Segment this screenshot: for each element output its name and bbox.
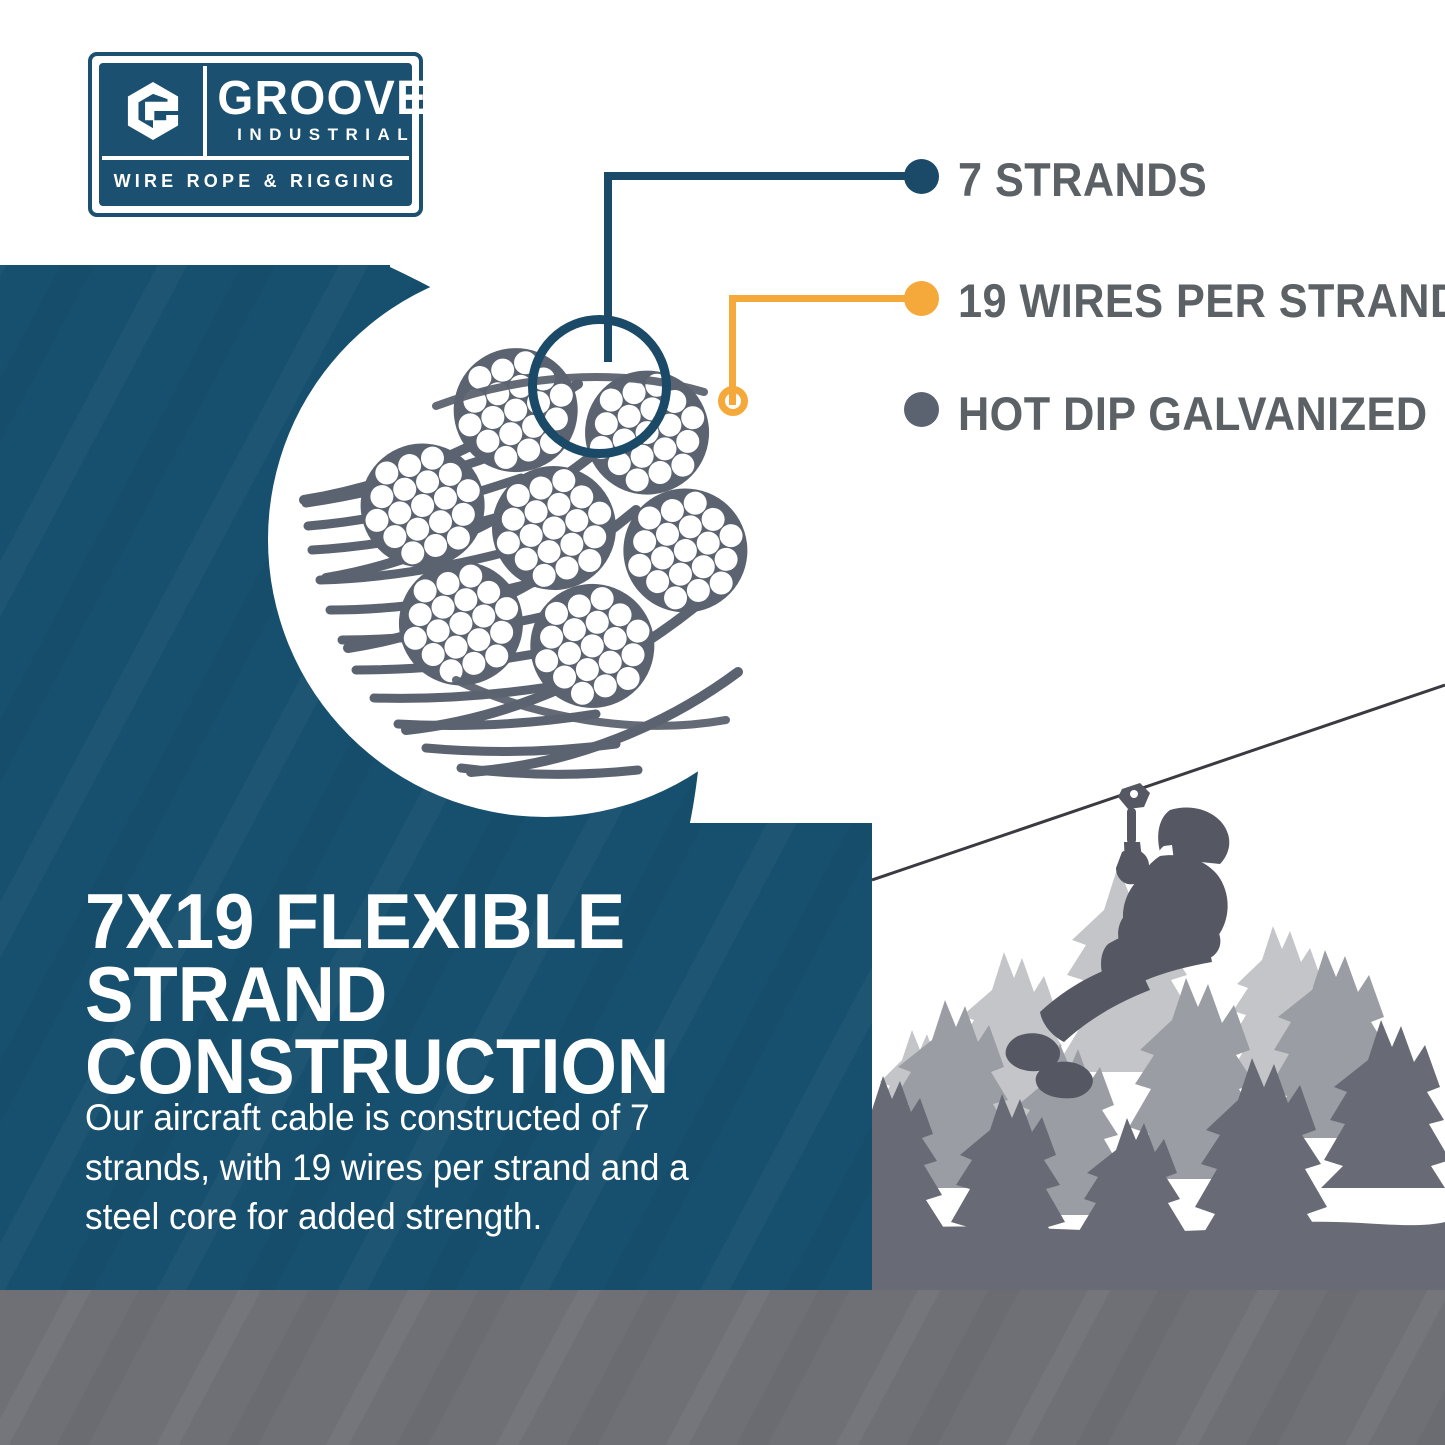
logo-tagline: WIRE ROPE & RIGGING [114,171,398,192]
callout-label-galvanized: HOT DIP GALVANIZED [958,386,1428,441]
bottom-bar-stripe-texture [0,1290,1445,1445]
logo-brand-name: GROOVE [218,77,429,121]
logo-top-row: GROOVE INDUSTRIAL [102,66,409,160]
logo-wordmark: GROOVE INDUSTRIAL [207,66,439,156]
callout-line-strands-horizontal [604,172,922,180]
body-description: Our aircraft cable is constructed of 7 s… [85,1093,731,1242]
gray-dot-marker [904,392,939,427]
callout-label-strands: 7 STRANDS [958,152,1207,207]
blue-dot-marker [904,159,939,194]
logo-inner-frame: GROOVE INDUSTRIAL WIRE ROPE & RIGGING [99,63,412,206]
callout-line-wires-horizontal [729,295,922,302]
orange-dot-marker [904,281,939,316]
logo-tagline-row: WIRE ROPE & RIGGING [102,160,409,203]
zipline-rider-forest-photo [872,660,1445,1290]
magnifier-ring-icon [528,315,671,458]
headline-line-2: STRAND CONSTRUCTION [85,958,792,1103]
infographic-canvas: GROOVE INDUSTRIAL WIRE ROPE & RIGGING [0,0,1445,1445]
callout-line-strands-vertical [604,172,612,362]
orange-ring-marker [718,386,748,416]
logo-brand-subtitle: INDUSTRIAL [237,126,415,143]
groove-g-monogram-icon [102,66,207,156]
bottom-accent-bar [0,1290,1445,1445]
page-title: 7X19 FLEXIBLE STRAND CONSTRUCTION [85,885,792,1103]
brand-logo: GROOVE INDUSTRIAL WIRE ROPE & RIGGING [88,52,423,217]
callout-label-wires: 19 WIRES PER STRAND [958,273,1445,328]
